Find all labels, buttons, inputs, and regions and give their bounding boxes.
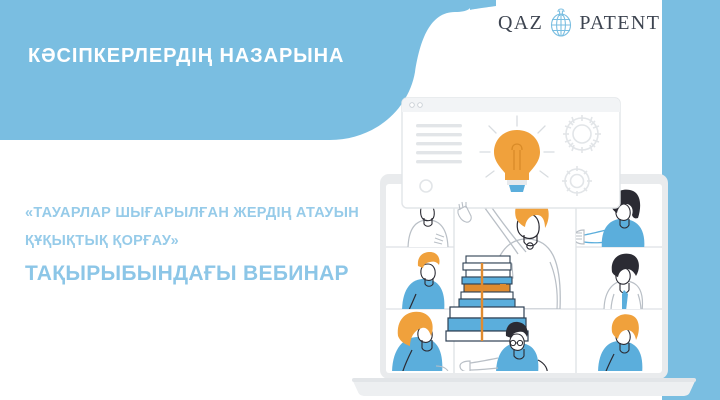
webinar-illustration (340, 82, 720, 400)
title-line-2: ҚҰҚЫҚТЫҚ ҚОРҒАУ» (25, 227, 385, 255)
logo-word-qaz: QAZ (498, 12, 543, 35)
logo-word-patent: PATENT (579, 12, 660, 35)
title-line-3: ТАҚЫРЫБЫНДАҒЫ ВЕБИНАР (25, 257, 385, 291)
globe-grid-icon (547, 8, 575, 38)
banner-headline: КӘСІПКЕРЛЕРДІҢ НАЗАРЫНА (28, 46, 344, 66)
floating-browser-window[interactable] (402, 98, 620, 208)
window-dot-1 (410, 103, 415, 108)
title-line-1: «ТАУАРЛАР ШЫҒАРЫЛҒАН ЖЕРДІҢ АТАУЫН (25, 199, 385, 227)
poster-canvas: КӘСІПКЕРЛЕРДІҢ НАЗАРЫНА QAZ PATENT «ТАУА… (0, 0, 720, 400)
window-dot-2 (418, 103, 423, 108)
page-title: «ТАУАРЛАР ШЫҒАРЫЛҒАН ЖЕРДІҢ АТАУЫН ҚҰҚЫҚ… (25, 199, 385, 291)
qazpatent-logo[interactable]: QAZ PATENT (498, 8, 660, 38)
